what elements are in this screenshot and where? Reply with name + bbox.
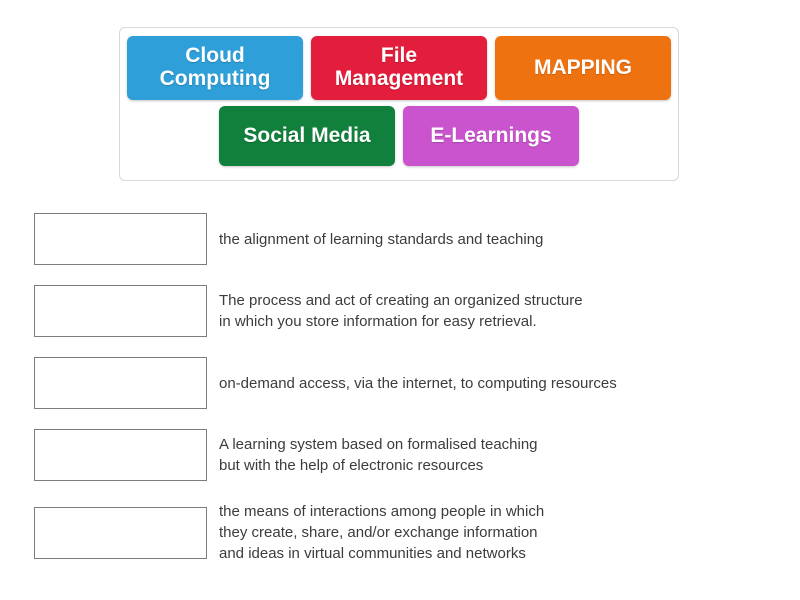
tile-label: Cloud Computing [160, 45, 271, 90]
tile-bank-row-2: Social Media E-Learnings [219, 106, 579, 166]
definition-text-4: A learning system based on formalised te… [219, 434, 774, 476]
drop-target-2[interactable] [34, 285, 207, 337]
drop-target-3[interactable] [34, 357, 207, 409]
answer-row: the means of interactions among people i… [34, 501, 774, 564]
definition-text-2: The process and act of creating an organ… [219, 290, 774, 332]
tile-e-learnings[interactable]: E-Learnings [403, 106, 579, 166]
drop-target-4[interactable] [34, 429, 207, 481]
tile-cloud-computing[interactable]: Cloud Computing [127, 36, 303, 100]
tile-label: Social Media [243, 125, 370, 148]
answer-row: on-demand access, via the internet, to c… [34, 357, 774, 409]
tile-bank-row-1: Cloud Computing File Management MAPPING [127, 36, 671, 100]
definition-text-5: the means of interactions among people i… [219, 501, 774, 564]
answer-row-list: the alignment of learning standards and … [34, 213, 774, 584]
answer-row: A learning system based on formalised te… [34, 429, 774, 481]
tile-label: MAPPING [534, 57, 632, 80]
tile-label: E-Learnings [430, 125, 551, 148]
tile-file-management[interactable]: File Management [311, 36, 487, 100]
drop-target-1[interactable] [34, 213, 207, 265]
tile-bank: Cloud Computing File Management MAPPING … [119, 27, 679, 181]
definition-text-1: the alignment of learning standards and … [219, 229, 774, 250]
tile-label: File Management [335, 45, 463, 90]
answer-row: The process and act of creating an organ… [34, 285, 774, 337]
drop-target-5[interactable] [34, 507, 207, 559]
definition-text-3: on-demand access, via the internet, to c… [219, 373, 774, 394]
tile-social-media[interactable]: Social Media [219, 106, 395, 166]
answer-row: the alignment of learning standards and … [34, 213, 774, 265]
tile-mapping[interactable]: MAPPING [495, 36, 671, 100]
